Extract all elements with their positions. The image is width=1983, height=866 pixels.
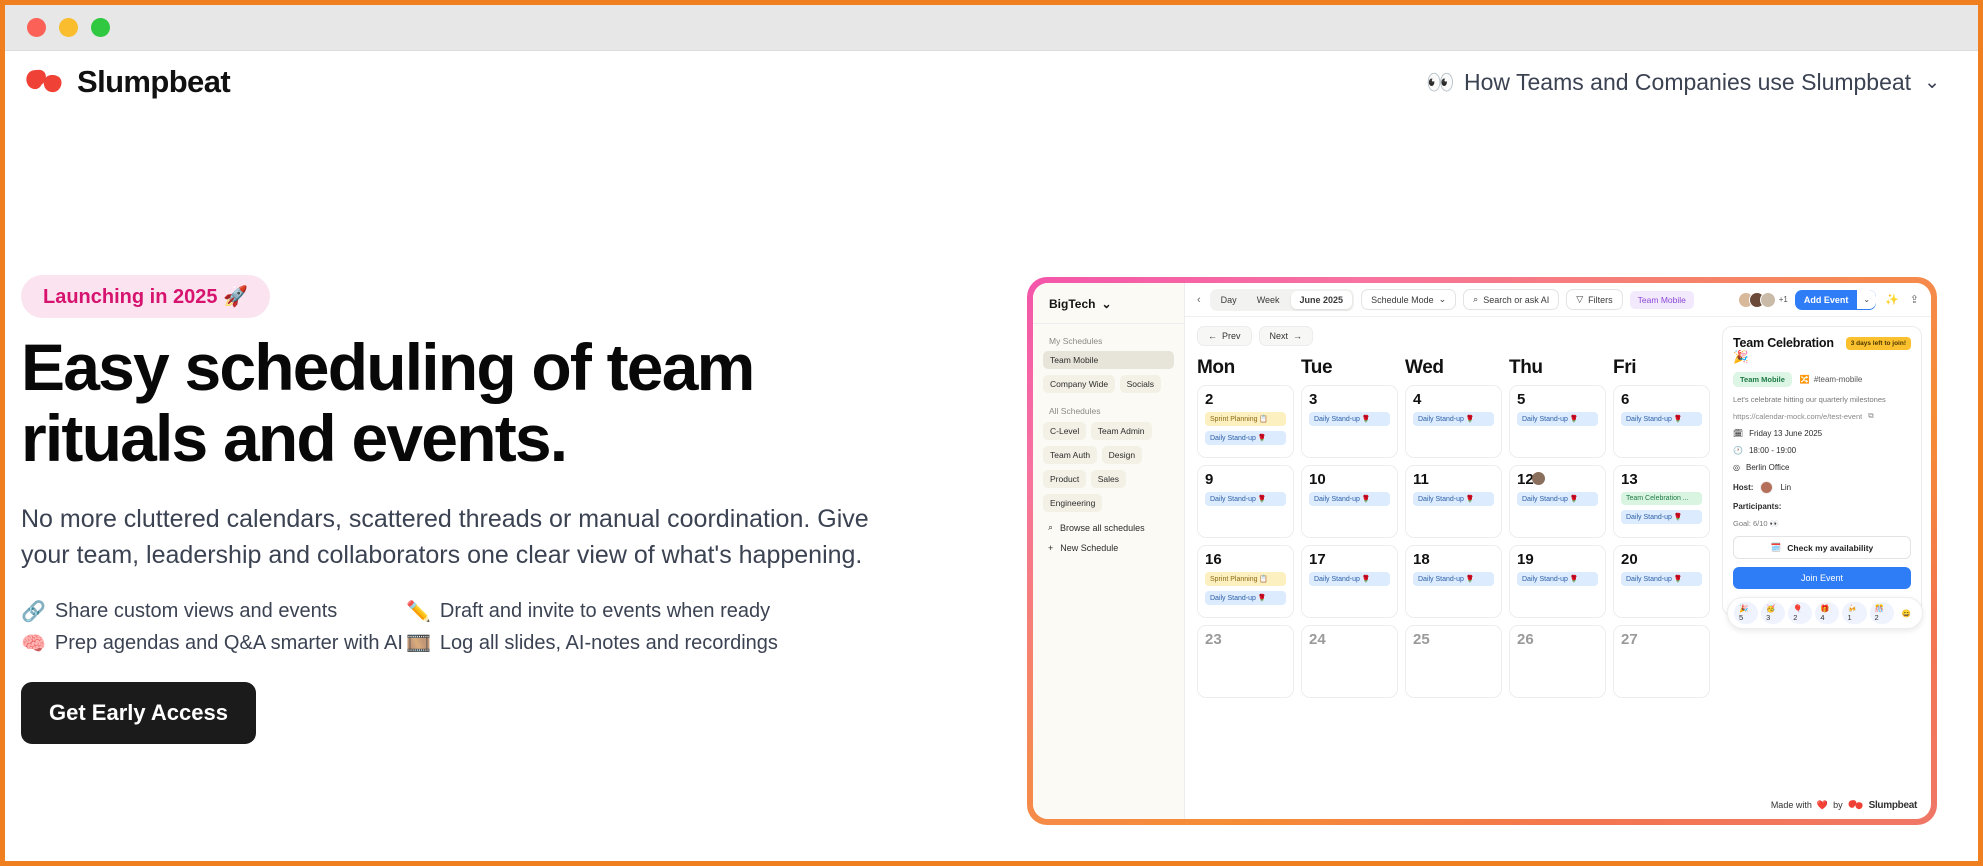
calendar-day-cell[interactable]: 6Daily Stand-up 🌹 [1613,385,1710,458]
sidebar-item-product[interactable]: Product [1043,470,1086,488]
calendar-event-chip[interactable]: Daily Stand-up 🌹 [1205,492,1286,506]
calendar-area: ← Prev Next → Mon Tue Wed [1185,317,1931,819]
calendar-event-chip[interactable]: Sprint Planning 📋 [1205,412,1286,426]
tab-week[interactable]: Week [1248,291,1289,309]
add-reaction-button[interactable]: 😄 [1897,607,1916,620]
event-title: Team Celebration 🎉 [1733,336,1842,365]
sidebar-item-team-admin[interactable]: Team Admin [1091,422,1152,440]
app-window: BigTech ⌄ My Schedules Team Mobile Compa… [1033,283,1931,819]
avatar-overflow-count: +1 [1779,295,1788,304]
calendar-event-chip[interactable]: Daily Stand-up 🌹 [1517,412,1598,426]
event-description: Let's celebrate hitting our quarterly mi… [1733,395,1911,404]
calendar-event-chip[interactable]: Daily Stand-up 🌹 [1413,412,1494,426]
event-date-row: 🗓 Friday 13 June 2025 [1733,429,1911,438]
schedule-mode-dropdown[interactable]: Schedule Mode ⌄ [1361,289,1456,310]
page-root: Slumpbeat 👀 How Teams and Companies use … [0,0,1983,866]
slack-channel[interactable]: 🔀 #team-mobile [1800,375,1862,384]
reaction-bar: 🎉 5🥳 3🎈 2🎁 4🍻 1🎊 2😄 [1727,597,1923,629]
pin-icon: ◎ [1733,463,1740,472]
calendar-day-cell[interactable]: 17Daily Stand-up 🌹 [1301,545,1398,618]
brain-icon: 🧠 [21,631,46,656]
calendar-day-cell[interactable]: 2Sprint Planning 📋Daily Stand-up 🌹 [1197,385,1294,458]
calendar-day-number: 10 [1309,472,1390,487]
footer-brand-name: Slumpbeat [1869,800,1917,811]
event-time: 18:00 - 19:00 [1749,446,1796,455]
browse-all-schedules-label: Browse all schedules [1060,523,1145,533]
tab-day[interactable]: Day [1212,291,1246,309]
calendar-day-cell[interactable]: 16Sprint Planning 📋Daily Stand-up 🌹 [1197,545,1294,618]
app-main: ‹ Day Week June 2025 Schedule Mode ⌄ ⌕ S… [1185,283,1931,819]
calendar-day-number: 27 [1621,632,1702,647]
page-title: Easy scheduling of team rituals and even… [21,332,951,475]
calendar-check-icon: 🗓️ [1771,542,1782,553]
reaction-chip[interactable]: 🥳 3 [1761,602,1785,624]
event-goal: Goal: 6/10 👀 [1733,519,1911,528]
feature-list: 🔗 Share custom views and events ✏️ Draft… [21,599,951,656]
sidebar-group-label-all-schedules: All Schedules [1043,406,1174,416]
filters-button[interactable]: ▽ Filters [1566,289,1622,310]
reaction-chip[interactable]: 🍻 1 [1842,602,1866,624]
made-by-footer: Made with ❤️ by Slumpbeat [1771,799,1917,811]
day-name-tue: Tue [1301,357,1398,379]
calendar-event-chip[interactable]: Daily Stand-up 🌹 [1621,510,1702,524]
sidebar-item-socials[interactable]: Socials [1120,375,1161,393]
sidebar-item-team-auth[interactable]: Team Auth [1043,446,1097,464]
window-zoom-button[interactable] [91,18,110,37]
hero-subtext: No more cluttered calendars, scattered t… [21,501,871,574]
join-event-button[interactable]: Join Event [1733,567,1911,589]
calendar-event-chip[interactable]: Daily Stand-up 🌹 [1413,492,1494,506]
calendar-event-chip[interactable]: Team Celebration ... [1621,492,1702,505]
calendar-day-cell[interactable]: 27 [1613,625,1710,698]
feature-label: Draft and invite to events when ready [440,600,770,623]
org-switcher[interactable]: BigTech ⌄ [1033,293,1184,324]
calendar-day-number: 11 [1413,472,1494,487]
launch-badge: Launching in 2025 🚀 [21,275,270,318]
add-event-label: Add Event [1795,290,1858,310]
share-icon[interactable]: ⇪ [1908,293,1921,306]
heart-icon: ❤️ [1817,800,1828,811]
top-navigation: Slumpbeat 👀 How Teams and Companies use … [5,51,1978,113]
pencil-icon: ✏️ [406,599,431,624]
app-toolbar: ‹ Day Week June 2025 Schedule Mode ⌄ ⌕ S… [1185,283,1931,317]
sidebar-group-label-my-schedules: My Schedules [1043,336,1174,346]
feature-label: Share custom views and events [55,600,337,623]
calendar-day-cell[interactable]: 26 [1509,625,1606,698]
reaction-chip[interactable]: 🎁 4 [1815,602,1839,624]
view-switcher: Day Week June 2025 [1210,289,1354,311]
browse-all-schedules-button[interactable]: ⌕ Browse all schedules [1043,517,1174,538]
calendar-day-number: 19 [1517,552,1598,567]
calendar-day-number: 5 [1517,392,1598,407]
event-location: Berlin Office [1746,463,1789,472]
calendar-day-number: 3 [1309,392,1390,407]
sidebar-item-team-mobile[interactable]: Team Mobile [1043,351,1174,369]
search-placeholder: Search or ask AI [1483,295,1549,305]
channel-name: #team-mobile [1814,375,1862,384]
calendar-day-number: 6 [1621,392,1702,407]
plus-icon: + [1048,543,1053,553]
org-name: BigTech [1049,297,1095,311]
calendar-day-cell[interactable]: 3Daily Stand-up 🌹 [1301,385,1398,458]
copy-icon[interactable]: ⧉ [1868,411,1873,421]
event-link: https://calendar-mock.com/e/test-event [1733,412,1862,421]
active-team-tag[interactable]: Team Mobile [1630,291,1694,309]
calendar-day-number: 24 [1309,632,1390,647]
next-button[interactable]: Next → [1259,326,1314,346]
window-titlebar [5,5,1978,51]
sidebar-item-company-wide[interactable]: Company Wide [1043,375,1115,393]
calendar-day-number: 2 [1205,392,1286,407]
event-host-row: Host: Lin [1733,481,1911,494]
prev-button[interactable]: ← Prev [1197,326,1252,346]
made-with-label: Made with [1771,800,1812,810]
calendar-day-cell[interactable]: 11Daily Stand-up 🌹 [1405,465,1502,538]
nav-link-how-teams-use[interactable]: 👀 How Teams and Companies use Slumpbeat … [1426,69,1940,96]
window-close-button[interactable] [27,18,46,37]
chevron-down-icon[interactable]: ⌄ [1857,290,1876,309]
calendar-event-chip[interactable]: Daily Stand-up 🌹 [1413,572,1494,586]
event-location-row: ◎ Berlin Office [1733,463,1911,472]
feature-label: Prep agendas and Q&A smarter with AI [55,632,403,655]
participants-label: Participants: [1733,502,1781,511]
check-availability-button[interactable]: 🗓️ Check my availability [1733,536,1911,559]
calendar-day-cell[interactable]: 18Daily Stand-up 🌹 [1405,545,1502,618]
feature-item: 🎞️ Log all slides, AI-notes and recordin… [406,631,951,656]
calendar-event-chip[interactable]: Daily Stand-up 🌹 [1309,412,1390,426]
calendar-event-chip[interactable]: Daily Stand-up 🌹 [1309,492,1390,506]
calendar-day-number: 23 [1205,632,1286,647]
next-label: Next [1270,331,1289,341]
calendar-grid: ← Prev Next → Mon Tue Wed [1185,317,1720,819]
event-time-row: 🕐 18:00 - 19:00 [1733,446,1911,455]
reaction-chip[interactable]: 🎊 2 [1870,602,1894,624]
film-icon: 🎞️ [406,631,431,656]
calendar-day-cell[interactable]: 13Team Celebration ...Daily Stand-up 🌹 [1613,465,1710,538]
new-schedule-label: New Schedule [1060,543,1118,553]
member-avatars[interactable]: +1 [1738,292,1788,308]
app-mockup-frame: BigTech ⌄ My Schedules Team Mobile Compa… [1027,277,1937,825]
day-name-wed: Wed [1405,357,1502,379]
link-icon: 🔗 [21,599,46,624]
nav-link-label: How Teams and Companies use Slumpbeat [1464,69,1911,96]
collapse-sidebar-icon[interactable]: ‹ [1195,294,1203,306]
by-label: by [1833,800,1843,810]
calendar-day-number: 20 [1621,552,1702,567]
calendar-day-number: 25 [1413,632,1494,647]
avatar [1532,472,1545,485]
calendar-day-cell[interactable]: 19Daily Stand-up 🌹 [1509,545,1606,618]
calendar-day-number: 18 [1413,552,1494,567]
chevron-down-icon: ⌄ [1439,294,1447,305]
calendar-nav: ← Prev Next → [1197,326,1710,346]
new-schedule-button[interactable]: + New Schedule [1043,538,1174,558]
host-name: Lin [1780,483,1791,492]
calendar-day-cell[interactable]: 25 [1405,625,1502,698]
event-detail-panel: Team Celebration 🎉 3 days left to join! … [1722,326,1922,616]
calendar-day-cell[interactable]: 24 [1301,625,1398,698]
calendar-day-number: 26 [1517,632,1598,647]
feature-label: Log all slides, AI-notes and recordings [440,632,778,655]
slack-icon: 🔀 [1800,375,1810,384]
calendar-icon: 🗓 [1733,429,1743,438]
clock-icon: 🕐 [1733,446,1743,455]
event-title-row: Team Celebration 🎉 3 days left to join! [1733,336,1911,365]
calendar-day-number: 13 [1621,472,1702,487]
search-icon: ⌕ [1473,294,1478,305]
calendar-event-chip[interactable]: Daily Stand-up 🌹 [1621,412,1702,426]
calendar-weeks: 2Sprint Planning 📋Daily Stand-up 🌹3Daily… [1197,385,1710,698]
calendar-day-cell[interactable]: 5Daily Stand-up 🌹 [1509,385,1606,458]
check-availability-label: Check my availability [1787,543,1873,553]
prev-label: Prev [1222,331,1241,341]
arrow-right-icon: → [1293,331,1302,341]
sidebar-item-design[interactable]: Design [1102,446,1142,464]
feature-item: ✏️ Draft and invite to events when ready [406,599,951,624]
day-name-thu: Thu [1509,357,1606,379]
calendar-day-number: 4 [1413,392,1494,407]
search-icon: ⌕ [1048,522,1053,533]
event-team-tag: Team Mobile [1733,372,1792,387]
calendar-day-cell[interactable]: 10Daily Stand-up 🌹 [1301,465,1398,538]
slumpbeat-mark-icon [25,67,65,97]
day-name-fri: Fri [1613,357,1710,379]
calendar-event-chip[interactable]: Daily Stand-up 🌹 [1205,431,1286,445]
day-name-header: Mon Tue Wed Thu Fri [1197,357,1710,379]
tab-month-june-2025[interactable]: June 2025 [1291,291,1353,309]
calendar-event-chip[interactable]: Daily Stand-up 🌹 [1517,492,1598,506]
arrow-left-icon: ← [1208,331,1217,341]
filters-label: Filters [1588,295,1613,305]
add-event-button[interactable]: Add Event ⌄ [1795,290,1876,310]
filter-icon: ▽ [1576,294,1583,305]
calendar-event-chip[interactable]: Daily Stand-up 🌹 [1309,572,1390,586]
sidebar-item-c-level[interactable]: C-Level [1043,422,1086,440]
event-tags: Team Mobile 🔀 #team-mobile [1733,372,1911,387]
calendar-day-cell[interactable]: 4Daily Stand-up 🌹 [1405,385,1502,458]
hero-section: Launching in 2025 🚀 Easy scheduling of t… [21,275,951,744]
event-link-row[interactable]: https://calendar-mock.com/e/test-event ⧉ [1733,411,1911,421]
calendar-day-cell[interactable]: 20Daily Stand-up 🌹 [1613,545,1710,618]
calendar-event-chip[interactable]: Daily Stand-up 🌹 [1621,572,1702,586]
host-label: Host: [1733,483,1753,492]
calendar-day-number: 9 [1205,472,1286,487]
reaction-chip[interactable]: 🎉 5 [1734,602,1758,624]
avatar [1760,292,1776,308]
app-sidebar: BigTech ⌄ My Schedules Team Mobile Compa… [1033,283,1185,819]
eyes-icon: 👀 [1426,69,1455,96]
event-participants-row: Participants: [1733,502,1911,511]
window-minimize-button[interactable] [59,18,78,37]
schedule-mode-label: Schedule Mode [1371,295,1434,305]
feature-item: 🧠 Prep agendas and Q&A smarter with AI [21,631,406,656]
brand-name: Slumpbeat [77,64,230,100]
sidebar-item-sales[interactable]: Sales [1091,470,1126,488]
calendar-day-cell[interactable]: 23 [1197,625,1294,698]
event-date: Friday 13 June 2025 [1749,429,1822,438]
calendar-event-chip[interactable]: Daily Stand-up 🌹 [1205,591,1286,605]
calendar-day-cell[interactable]: 9Daily Stand-up 🌹 [1197,465,1294,538]
chevron-down-icon: ⌄ [1924,71,1940,94]
chevron-down-icon: ⌄ [1101,297,1111,311]
calendar-event-chip[interactable]: Daily Stand-up 🌹 [1517,572,1598,586]
sparkle-icon[interactable]: ✨ [1883,293,1901,306]
sidebar-item-engineering[interactable]: Engineering [1043,494,1102,512]
calendar-day-cell[interactable]: 12Daily Stand-up 🌹 [1509,465,1606,538]
feature-item: 🔗 Share custom views and events [21,599,406,624]
brand-logo[interactable]: Slumpbeat [25,64,230,100]
search-input[interactable]: ⌕ Search or ask AI [1463,289,1559,310]
avatar [1760,481,1773,494]
calendar-day-number: 12 [1517,472,1598,487]
day-name-mon: Mon [1197,357,1294,379]
get-early-access-button[interactable]: Get Early Access [21,682,256,744]
reaction-chip[interactable]: 🎈 2 [1788,602,1812,624]
calendar-event-chip[interactable]: Sprint Planning 📋 [1205,572,1286,586]
slumpbeat-mark-icon [1848,799,1864,811]
status-badge: 3 days left to join! [1846,337,1911,350]
calendar-day-number: 16 [1205,552,1286,567]
calendar-day-number: 17 [1309,552,1390,567]
